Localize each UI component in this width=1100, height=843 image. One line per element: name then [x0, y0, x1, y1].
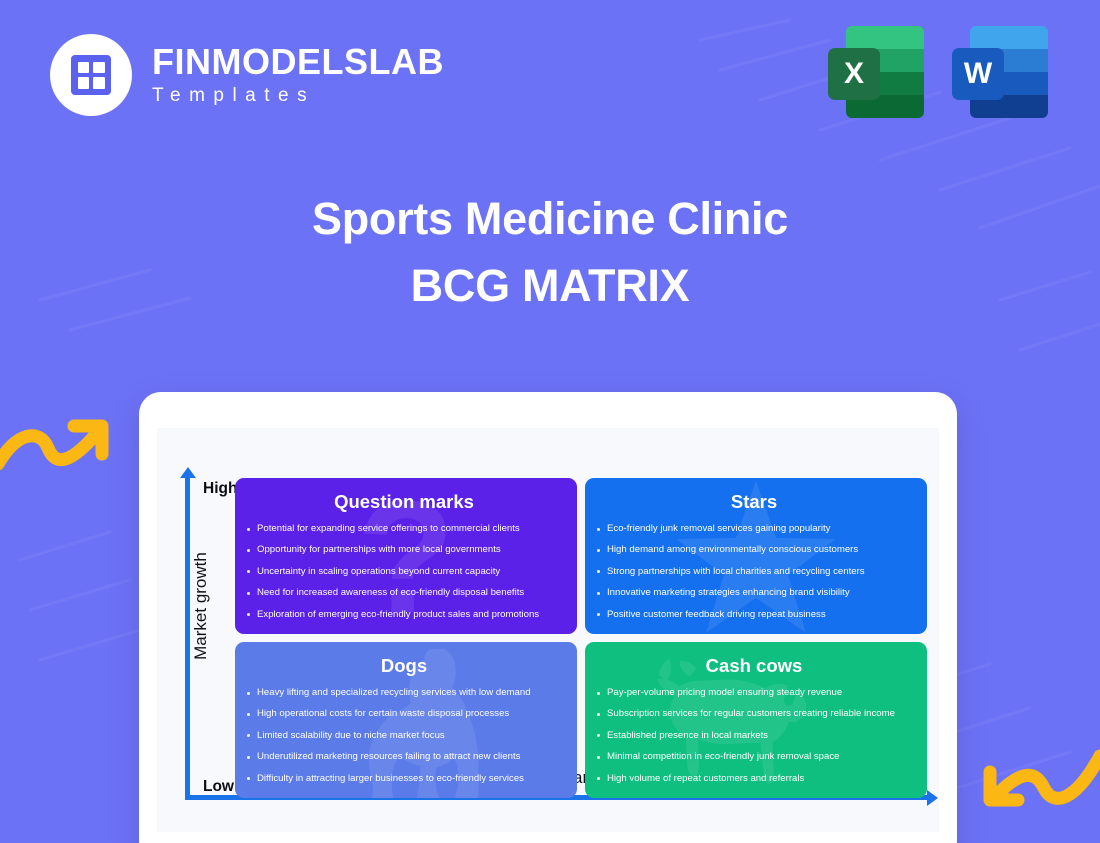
list-item-text: Minimal competition in eco-friendly junk…	[607, 751, 839, 763]
list-item-text: Uncertainty in scaling operations beyond…	[257, 566, 500, 578]
list-item: Difficulty in attracting larger business…	[247, 773, 561, 785]
bullet-dot	[247, 756, 250, 759]
list-item: Eco-friendly junk removal services gaini…	[597, 523, 911, 535]
page-title-block: Sports Medicine Clinic BCG MATRIX	[0, 192, 1100, 312]
list-item: Exploration of emerging eco-friendly pro…	[247, 609, 561, 621]
quadrant-title: Question marks	[247, 491, 561, 513]
list-item-text: Eco-friendly junk removal services gaini…	[607, 523, 830, 535]
list-item-text: Opportunity for partnerships with more l…	[257, 544, 501, 556]
list-item: High operational costs for certain waste…	[247, 708, 561, 720]
list-item-text: Heavy lifting and specialized recycling …	[257, 687, 531, 699]
list-item-text: High operational costs for certain waste…	[257, 708, 509, 720]
list-item: Opportunity for partnerships with more l…	[247, 544, 561, 556]
bullet-dot	[247, 592, 250, 595]
bullet-dot	[597, 592, 600, 595]
list-item-text: Established presence in local markets	[607, 730, 768, 742]
list-item: Potential for expanding service offering…	[247, 523, 561, 535]
squiggle-arrow-down-left-icon	[972, 730, 1100, 818]
y-axis	[185, 476, 190, 800]
excel-icon[interactable]: X	[828, 26, 924, 122]
logo-mark	[50, 34, 132, 116]
bullet-dot	[247, 528, 250, 531]
grid-squares-icon	[71, 55, 111, 95]
bcg-quadrant-grid: ? Question marks Potential for expanding…	[235, 478, 927, 798]
quadrant-bullet-list: Eco-friendly junk removal services gaini…	[597, 523, 911, 621]
list-item: Limited scalability due to niche market …	[247, 730, 561, 742]
list-item: High demand among environmentally consci…	[597, 544, 911, 556]
brand-lockup: FINMODELSLAB Templates	[50, 34, 444, 116]
list-item-text: Exploration of emerging eco-friendly pro…	[257, 609, 539, 621]
bullet-dot	[247, 713, 250, 716]
word-icon[interactable]: W	[952, 26, 1048, 122]
bullet-dot	[597, 570, 600, 573]
list-item: Pay-per-volume pricing model ensuring st…	[597, 687, 911, 699]
quadrant-cash-cows[interactable]: Cash cows Pay-per-volume pricing model e…	[585, 642, 927, 798]
quadrant-stars[interactable]: Stars Eco-friendly junk removal services…	[585, 478, 927, 634]
matrix-panel: High Low Market growth Market share High…	[157, 428, 939, 832]
quadrant-bullet-list: Heavy lifting and specialized recycling …	[247, 687, 561, 785]
bullet-dot	[597, 692, 600, 695]
list-item-text: Positive customer feedback driving repea…	[607, 609, 826, 621]
quadrant-dogs[interactable]: Dogs Heavy lifting and specialized recyc…	[235, 642, 577, 798]
list-item-text: Potential for expanding service offering…	[257, 523, 520, 535]
quadrant-question-marks[interactable]: ? Question marks Potential for expanding…	[235, 478, 577, 634]
bullet-dot	[597, 734, 600, 737]
quadrant-bullet-list: Pay-per-volume pricing model ensuring st…	[597, 687, 911, 785]
list-item-text: Underutilized marketing resources failin…	[257, 751, 520, 763]
word-letter: W	[952, 48, 1004, 100]
list-item: Established presence in local markets	[597, 730, 911, 742]
list-item: Underutilized marketing resources failin…	[247, 751, 561, 763]
bullet-dot	[247, 692, 250, 695]
poster-stage: FINMODELSLAB Templates X W Spo	[0, 0, 1100, 843]
quadrant-title: Stars	[597, 491, 911, 513]
bullet-dot	[247, 570, 250, 573]
excel-letter: X	[828, 48, 880, 100]
quadrant-title: Cash cows	[597, 655, 911, 677]
bullet-dot	[247, 549, 250, 552]
list-item: Subscription services for regular custom…	[597, 708, 911, 720]
list-item: Heavy lifting and specialized recycling …	[247, 687, 561, 699]
list-item-text: Innovative marketing strategies enhancin…	[607, 587, 850, 599]
bullet-dot	[597, 549, 600, 552]
list-item-text: High demand among environmentally consci…	[607, 544, 858, 556]
list-item: Uncertainty in scaling operations beyond…	[247, 566, 561, 578]
brand-subtitle: Templates	[152, 85, 444, 107]
bullet-dot	[597, 756, 600, 759]
quadrant-bullet-list: Potential for expanding service offering…	[247, 523, 561, 621]
list-item: Minimal competition in eco-friendly junk…	[597, 751, 911, 763]
list-item-text: Difficulty in attracting larger business…	[257, 773, 524, 785]
page-subtitle: BCG MATRIX	[0, 259, 1100, 312]
brand-name: FINMODELSLAB	[152, 43, 444, 81]
list-item: High volume of repeat customers and refe…	[597, 773, 911, 785]
list-item-text: Limited scalability due to niche market …	[257, 730, 445, 742]
bullet-dot	[597, 528, 600, 531]
list-item: Innovative marketing strategies enhancin…	[597, 587, 911, 599]
y-axis-label: Market growth	[191, 526, 211, 686]
squiggle-arrow-up-right-icon	[0, 404, 126, 484]
list-item-text: High volume of repeat customers and refe…	[607, 773, 804, 785]
matrix-card: High Low Market growth Market share High…	[139, 392, 957, 843]
list-item-text: Subscription services for regular custom…	[607, 708, 895, 720]
page-title: Sports Medicine Clinic	[0, 192, 1100, 245]
list-item: Strong partnerships with local charities…	[597, 566, 911, 578]
list-item-text: Need for increased awareness of eco-frie…	[257, 587, 524, 599]
list-item-text: Strong partnerships with local charities…	[607, 566, 865, 578]
quadrant-title: Dogs	[247, 655, 561, 677]
bullet-dot	[597, 613, 600, 616]
y-axis-high-label: High	[203, 480, 237, 498]
bullet-dot	[597, 777, 600, 780]
bullet-dot	[597, 713, 600, 716]
bullet-dot	[247, 613, 250, 616]
office-format-icons: X W	[828, 26, 1048, 122]
bullet-dot	[247, 777, 250, 780]
list-item: Positive customer feedback driving repea…	[597, 609, 911, 621]
bullet-dot	[247, 734, 250, 737]
list-item-text: Pay-per-volume pricing model ensuring st…	[607, 687, 842, 699]
list-item: Need for increased awareness of eco-frie…	[247, 587, 561, 599]
